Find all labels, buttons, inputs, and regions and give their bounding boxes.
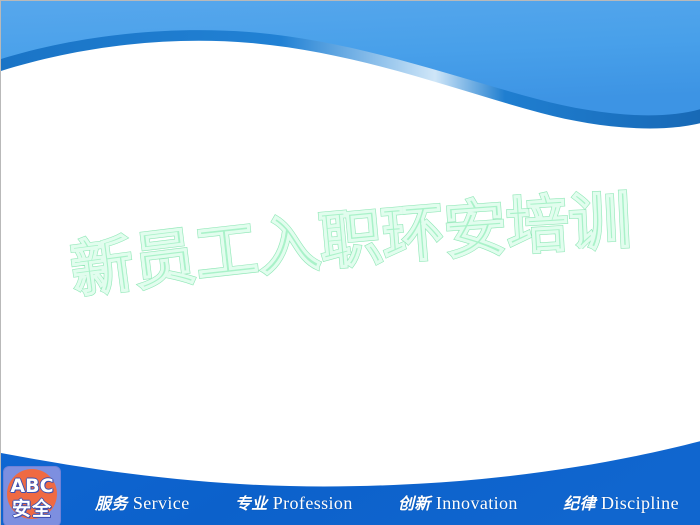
footer-item-discipline: 纪律Discipline: [563, 494, 679, 512]
title-highlight-layer: 新员工入职环安培训: [67, 184, 633, 307]
abc-safety-logo: ABC 安全: [4, 467, 60, 525]
footer-item-profession-en: Profession: [273, 493, 353, 513]
wave-light-body: [1, 1, 700, 115]
footer-item-service: 服务Service: [95, 494, 190, 512]
footer-item-profession: 专业Profession: [235, 494, 353, 512]
footer-item-profession-cn: 专业: [235, 494, 268, 513]
title-highlight-text: 新员工入职环安培训: [67, 184, 633, 307]
presentation-slide: 新员工入职环安培训 新员工入职环安培训 新员工入职环安培训 服务Service: [0, 0, 700, 525]
footer-item-service-en: Service: [133, 493, 190, 513]
footer-item-service-cn: 服务: [95, 494, 128, 513]
slide-title: 新员工入职环安培训 新员工入职环安培训 新员工入职环安培训: [1, 197, 700, 327]
logo-safety-text: 安全: [4, 500, 60, 519]
footer-item-discipline-en: Discipline: [601, 493, 679, 513]
footer-item-innovation-cn: 创新: [398, 494, 431, 513]
footer-slogan-list: 服务Service 专业Profession 创新Innovation 纪律Di…: [71, 481, 700, 525]
footer-item-innovation-en: Innovation: [436, 493, 518, 513]
footer-item-discipline-cn: 纪律: [563, 494, 596, 513]
top-wave-decoration: [1, 1, 700, 141]
footer-item-innovation: 创新Innovation: [398, 494, 518, 512]
logo-abc-text: ABC: [4, 477, 60, 496]
wave-dark-stripe: [1, 1, 700, 128]
